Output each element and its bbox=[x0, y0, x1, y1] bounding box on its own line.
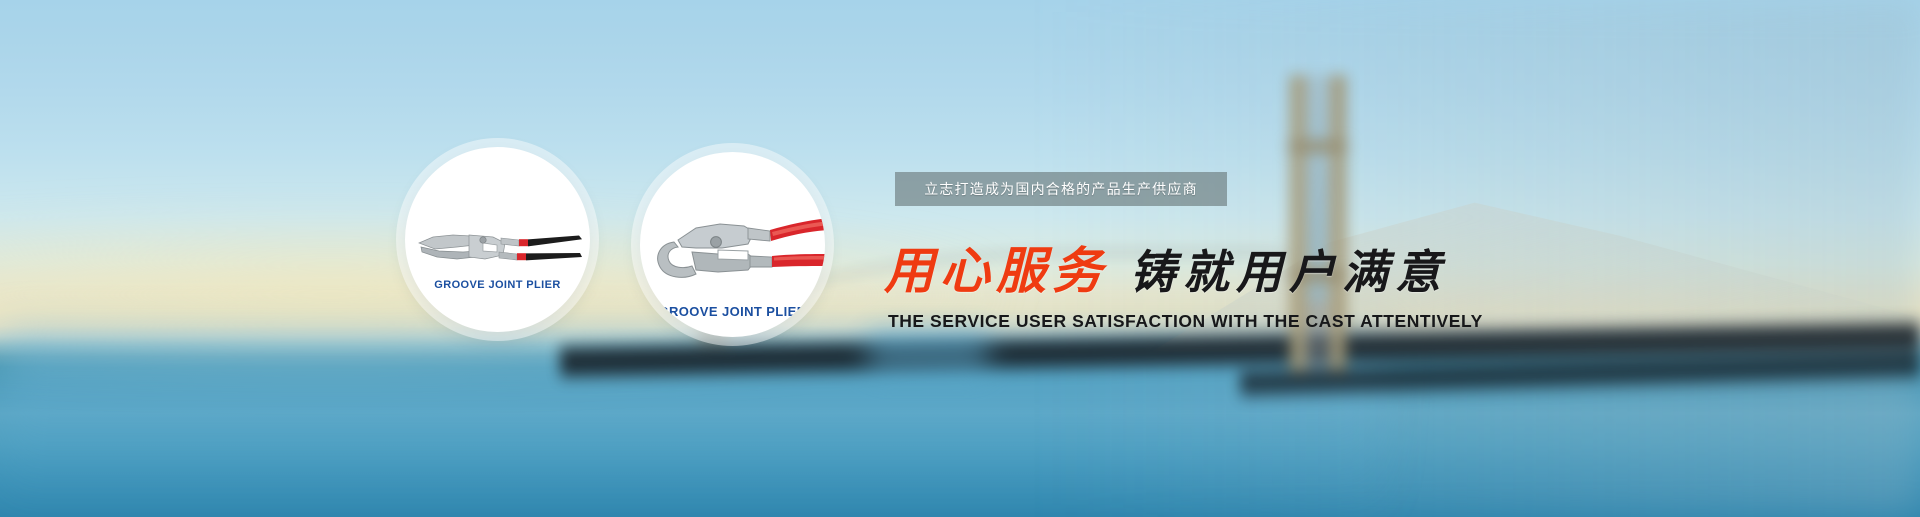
headline: 用心服务 铸就用户满意 bbox=[884, 246, 1448, 296]
headline-black-text: 铸就用户满意 bbox=[1130, 249, 1448, 295]
product-caption: GROOVE JOINT PLIER bbox=[405, 279, 590, 291]
subtitle-text: THE SERVICE USER SATISFACTION WITH THE C… bbox=[888, 311, 1483, 332]
groove-joint-plier-illustration bbox=[413, 221, 585, 271]
headline-red-text: 用心服务 bbox=[884, 246, 1108, 296]
product-circle-1[interactable]: GROOVE JOINT PLIER bbox=[405, 147, 590, 332]
product-circle-2[interactable]: GROOVE JOINT PLIER bbox=[640, 152, 825, 337]
tagline-text: 立志打造成为国内合格的产品生产供应商 bbox=[924, 179, 1198, 199]
groove-joint-plier-illustration bbox=[644, 204, 825, 284]
hero-banner: GROOVE JOINT PLIER GROOVE JOINT PLIER bbox=[0, 0, 1920, 517]
tagline-bar: 立志打造成为国内合格的产品生产供应商 bbox=[895, 172, 1227, 206]
bridge-tower-crossbeam bbox=[1288, 140, 1348, 153]
product-caption: GROOVE JOINT PLIER bbox=[640, 304, 825, 319]
bridge-sky-gap bbox=[868, 330, 988, 374]
